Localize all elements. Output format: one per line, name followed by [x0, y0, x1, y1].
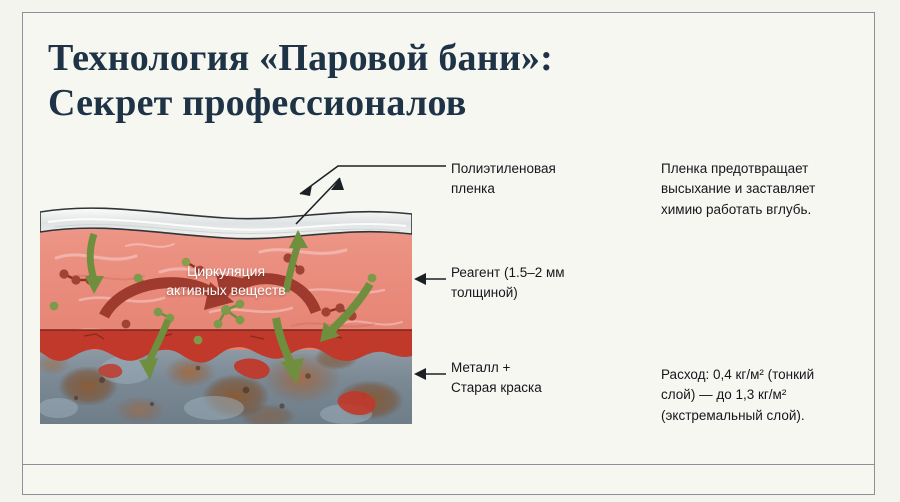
note-film: Пленка предотвращает высыхание и заставл… — [661, 159, 815, 220]
note-consumption-line-2: слой) — до 1,3 кг/м² — [661, 385, 814, 405]
diagram-caption-line-2: активных веществ — [40, 281, 412, 300]
diagram-caption: Циркуляция активных веществ — [40, 262, 412, 300]
slide-root: Технология «Паровой бани»: Секрет профес… — [0, 0, 900, 502]
callout-metal-line-1: Металл + — [451, 358, 542, 378]
callout-reagent-line-2: толщиной) — [451, 283, 565, 303]
callout-film: Полиэтиленовая пленка — [451, 159, 556, 198]
note-consumption: Расход: 0,4 кг/м² (тонкий слой) — до 1,3… — [661, 365, 814, 426]
callout-film-line-1: Полиэтиленовая — [451, 159, 556, 179]
page-title-line-1: Технология «Паровой бани»: — [48, 36, 688, 81]
callout-metal: Металл + Старая краска — [451, 358, 542, 397]
page-title: Технология «Паровой бани»: Секрет профес… — [48, 36, 688, 126]
callout-reagent-line-1: Реагент (1.5–2 мм — [451, 263, 565, 283]
footer-divider — [22, 464, 875, 465]
note-film-line-2: высыхание и заставляет — [661, 179, 815, 199]
diagram-caption-line-1: Циркуляция — [40, 262, 412, 281]
page-title-line-2: Секрет профессионалов — [48, 81, 688, 126]
cross-section-diagram: Циркуляция активных веществ — [40, 200, 412, 424]
callout-metal-line-2: Старая краска — [451, 378, 542, 398]
note-film-line-1: Пленка предотвращает — [661, 159, 815, 179]
note-consumption-line-3: (экстремальный слой). — [661, 406, 814, 426]
note-consumption-line-1: Расход: 0,4 кг/м² (тонкий — [661, 365, 814, 385]
note-film-line-3: химию работать вглубь. — [661, 200, 815, 220]
callout-reagent: Реагент (1.5–2 мм толщиной) — [451, 263, 565, 302]
callout-film-line-2: пленка — [451, 179, 556, 199]
